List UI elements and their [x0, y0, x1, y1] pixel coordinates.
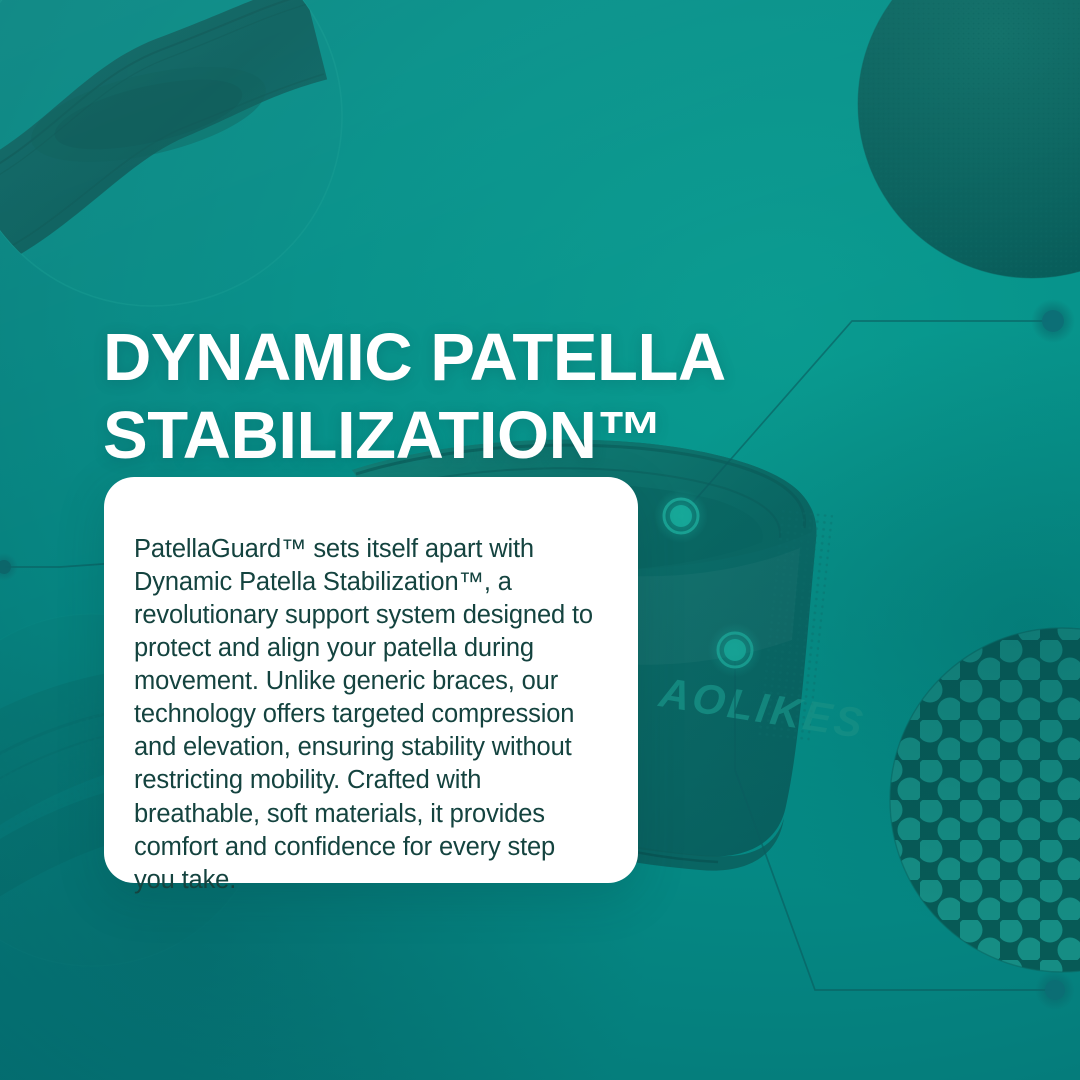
promo-graphic: AOLIKES [0, 0, 1080, 1080]
page-title: DYNAMIC PATELLA STABILIZATION™ [103, 319, 783, 474]
headline-line-1: DYNAMIC PATELLA [103, 320, 726, 395]
description-paragraph: PatellaGuard™ sets itself apart with Dyn… [134, 533, 598, 898]
description-card: PatellaGuard™ sets itself apart with Dyn… [104, 477, 638, 883]
headline-line-2: STABILIZATION™ [103, 397, 783, 475]
